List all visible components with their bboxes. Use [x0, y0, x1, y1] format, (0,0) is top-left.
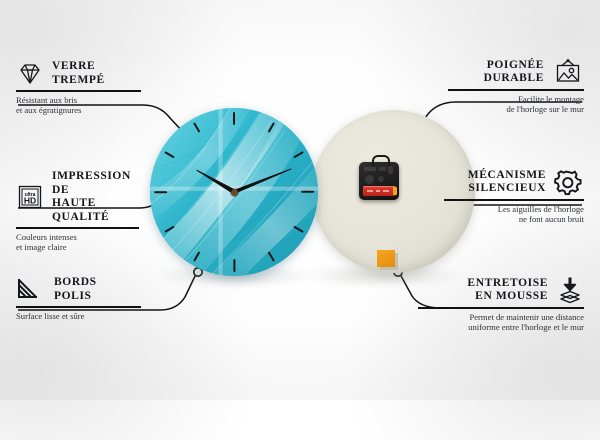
feature-title-2: POLIS — [54, 290, 97, 304]
foam-spacer — [377, 250, 395, 267]
feature-subtitle-2: et aux égratignures — [16, 105, 141, 116]
svg-text:HD: HD — [24, 196, 36, 206]
feature-subtitle-1: Résistant aux bris — [16, 95, 141, 106]
foam-spacer-icon — [556, 276, 584, 304]
feature-title-2: HAUTE QUALITÉ — [52, 197, 139, 224]
feature-title: IMPRESSION DE — [52, 170, 139, 197]
infographic-canvas: VERRE TREMPÉ Résistant aux bris et aux é… — [0, 0, 600, 400]
feature-subtitle-1: Facilite le montage — [448, 94, 584, 105]
feature-divider — [16, 227, 139, 229]
feature-subtitle-1: Couleurs intenses — [16, 232, 139, 243]
ultra-hd-icon: ultra HD — [16, 184, 44, 210]
feature-title: MÉCANISME — [468, 169, 546, 183]
clock-face-front — [150, 108, 318, 276]
feature-title: VERRE — [52, 60, 105, 74]
feature-verre-trempe: VERRE TREMPÉ Résistant aux bris et aux é… — [16, 60, 141, 116]
feature-subtitle-1: Permet de maintenir une distance — [418, 312, 584, 323]
feature-title-2: TREMPÉ — [52, 74, 105, 88]
aa-battery — [363, 186, 396, 196]
feature-subtitle-1: Les aiguilles de l'horloge — [444, 204, 584, 215]
feature-title: ENTRETOISE — [467, 277, 548, 291]
feature-divider — [418, 307, 584, 309]
feature-title-2: DURABLE — [484, 72, 544, 86]
feature-divider — [444, 199, 584, 201]
feature-title-2: EN MOUSSE — [467, 290, 548, 304]
feature-subtitle-2: ne font aucun bruit — [444, 214, 584, 225]
polished-edge-icon — [16, 278, 46, 302]
hanging-frame-icon — [552, 58, 584, 86]
feature-divider — [16, 90, 141, 92]
feature-divider — [16, 306, 141, 308]
feature-subtitle-2: et image claire — [16, 242, 139, 253]
quartz-movement — [359, 162, 399, 200]
feature-subtitle-2: de l'horloge sur le mur — [448, 104, 584, 115]
feature-subtitle-2: uniforme entre l'horloge et le mur — [418, 322, 584, 333]
feature-poignee-durable: POIGNÉE DURABLE Facilite le montage de l… — [448, 58, 584, 115]
feature-entretoise-en-mousse: ENTRETOISE EN MOUSSE Permet de maintenir… — [418, 276, 584, 333]
feature-title: POIGNÉE — [484, 59, 544, 73]
feature-subtitle-1: Surface lisse et sûre — [16, 311, 141, 322]
hands-center-cap — [231, 189, 238, 196]
feature-title-2: SILENCIEUX — [468, 182, 546, 196]
gear-icon — [554, 168, 584, 196]
diamond-icon — [16, 62, 44, 86]
feature-title: BORDS — [54, 276, 97, 290]
feature-divider — [448, 89, 584, 91]
feature-bords-polis: BORDS POLIS Surface lisse et sûre — [16, 276, 141, 321]
feature-impression-haute-qualite: ultra HD IMPRESSION DE HAUTE QUALITÉ Cou… — [16, 170, 139, 253]
feature-mecanisme-silencieux: MÉCANISME SILENCIEUX Les aiguilles de l'… — [444, 168, 584, 225]
